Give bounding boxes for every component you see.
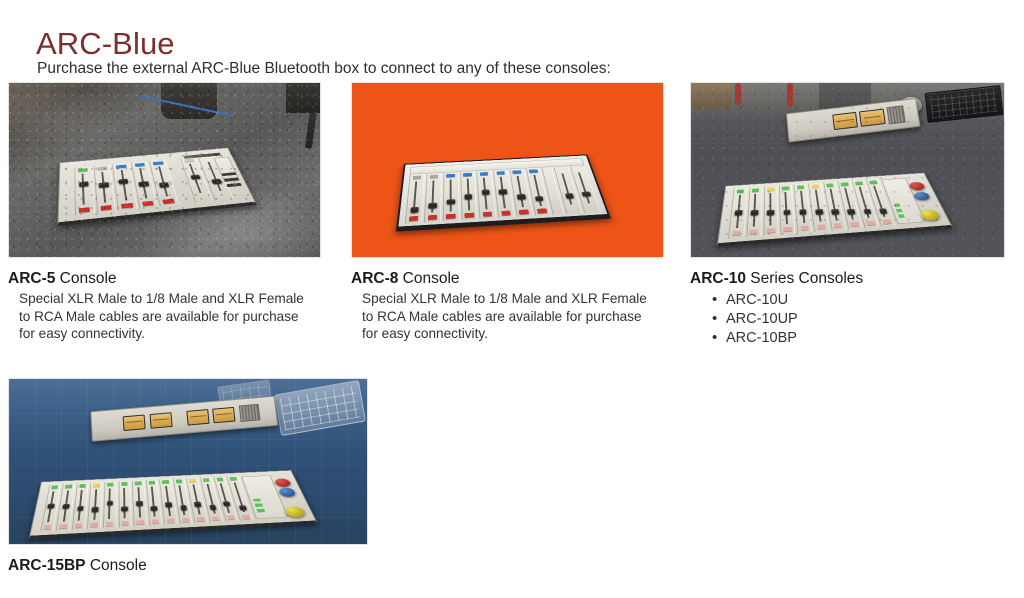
channel-strip — [794, 184, 813, 233]
channel-strip — [87, 482, 103, 529]
channel-strip — [132, 480, 147, 526]
dark-background-shape — [161, 83, 217, 119]
arc-5-right-panel — [214, 157, 241, 182]
blue-cable — [140, 95, 234, 117]
product-card-arc-15bp: ARC-15BP Console — [8, 378, 368, 575]
channel-strip — [779, 185, 796, 235]
product-note-arc-5: Special XLR Male to 1/8 Male and XLR Fem… — [19, 290, 321, 343]
channel-strip — [866, 179, 895, 227]
product-card-arc-10: ARC-10 Series Consoles ARC-10U ARC-10UP … — [690, 82, 1005, 348]
arc-10-model-list: ARC-10U ARC-10UP ARC-10BP — [690, 291, 1005, 348]
arc-15bp-meter-bridge — [90, 396, 278, 442]
note-line-1: Special XLR Male to 1/8 Male and XLR Fem… — [362, 290, 664, 308]
channel-strip — [200, 477, 224, 523]
arc-10-console-body — [717, 173, 953, 247]
arc-15bp-control-panel — [241, 475, 289, 519]
caption-arc-10: ARC-10 Series Consoles ARC-10U ARC-10UP … — [690, 269, 1005, 348]
chair-leg — [305, 87, 321, 149]
product-image-arc-15bp[interactable] — [8, 378, 368, 545]
channel-strip — [443, 172, 460, 221]
vu-meter — [186, 409, 209, 426]
arc-10-channel-strips — [728, 179, 895, 238]
channel-strip — [103, 481, 117, 528]
list-item: ARC-10U — [690, 291, 1005, 310]
channel-strip — [746, 187, 762, 237]
channel-strip — [763, 186, 778, 236]
vu-meter — [213, 406, 236, 423]
secondary-keyboard — [217, 380, 272, 413]
channel-strip — [112, 163, 137, 211]
channel-strip — [852, 180, 879, 228]
channel-strip — [227, 476, 254, 521]
caption-arc-8: ARC-8 Console Special XLR Male to 1/8 Ma… — [351, 269, 664, 343]
channel-strip — [149, 160, 179, 207]
channel-strip — [808, 183, 829, 232]
product-image-arc-5[interactable] — [8, 82, 321, 258]
channel-strip — [424, 173, 442, 222]
channel-strip — [74, 166, 94, 215]
vu-meter — [832, 112, 858, 130]
caption-arc-5: ARC-5 Console Special XLR Male to 1/8 Ma… — [8, 269, 321, 343]
product-title-arc-15bp: ARC-15BP Console — [8, 556, 368, 575]
keyboard — [925, 85, 1004, 123]
channel-strip — [93, 165, 116, 213]
product-card-arc-8: ARC-8 Console Special XLR Male to 1/8 Ma… — [351, 82, 664, 343]
list-item: ARC-10BP — [690, 329, 1005, 348]
product-note-arc-8: Special XLR Male to 1/8 Male and XLR Fem… — [362, 290, 664, 343]
product-title-arc-8: ARC-8 Console — [351, 269, 664, 288]
channel-strip — [56, 483, 75, 530]
channel-strip — [460, 171, 478, 220]
channel-strip — [159, 479, 178, 525]
blue-knob — [913, 191, 931, 200]
yellow-knob — [283, 505, 307, 517]
product-image-arc-8[interactable] — [351, 82, 664, 258]
channel-strip — [405, 174, 425, 223]
chair-leg — [735, 83, 741, 105]
channel-strip — [131, 161, 158, 208]
channel-strip — [146, 480, 163, 526]
arc-10-meter-bridge — [786, 98, 921, 143]
arc-15bp-channel-strips — [40, 476, 253, 532]
note-line-2: to RCA Male cables are available for pur… — [19, 308, 321, 326]
arc-8-console-body — [396, 154, 611, 231]
list-item: ARC-10UP — [690, 310, 1005, 329]
product-card-arc-5: ARC-5 Console Special XLR Male to 1/8 Ma… — [8, 82, 321, 343]
background-object — [286, 83, 320, 113]
channel-strip — [728, 188, 747, 239]
blue-knob — [277, 487, 296, 496]
yellow-knob — [919, 209, 941, 221]
red-knob — [908, 182, 926, 191]
arc-10-scene — [691, 83, 1004, 257]
arc-10-control-panel — [881, 178, 926, 224]
channel-strip — [72, 483, 89, 530]
channel-strip-monitor — [180, 157, 214, 203]
channel-strip — [837, 181, 862, 229]
vu-meter — [123, 414, 146, 431]
vu-meter — [149, 412, 172, 429]
background-object — [819, 83, 871, 117]
red-knob — [273, 478, 292, 487]
channel-strip — [40, 484, 61, 532]
speaker-grille — [239, 403, 261, 422]
product-title-arc-5: ARC-5 Console — [8, 269, 321, 288]
note-line-1: Special XLR Male to 1/8 Male and XLR Fem… — [19, 290, 321, 308]
wall-panel — [691, 83, 731, 109]
arc-8-scene — [352, 83, 663, 257]
note-line-2: to RCA Male cables are available for pur… — [362, 308, 664, 326]
channel-strip — [213, 476, 238, 521]
chair-leg — [787, 83, 793, 107]
arc-5-scene — [9, 83, 320, 257]
page-title: ARC-Blue — [36, 25, 175, 63]
mouse — [900, 97, 922, 113]
page-subtitle: Purchase the external ARC-Blue Bluetooth… — [37, 59, 611, 79]
arc-15bp-console-body — [29, 470, 318, 539]
caption-arc-15bp: ARC-15BP Console — [8, 556, 368, 575]
channel-strip — [186, 478, 208, 524]
note-line-3: for easy connectivity. — [362, 325, 664, 343]
note-line-3: for easy connectivity. — [19, 325, 321, 343]
arc-5-logo-plate — [184, 153, 221, 159]
arc-5-channel-strips — [74, 155, 233, 215]
product-title-arc-10: ARC-10 Series Consoles — [690, 269, 1005, 288]
arc-5-console-body — [57, 148, 257, 226]
arc-blue-product-page: ARC-Blue Purchase the external ARC-Blue … — [0, 0, 1024, 598]
arc-15bp-scene — [9, 379, 367, 544]
channel-strip — [118, 481, 131, 528]
vu-meter — [859, 109, 885, 127]
channel-strip — [173, 478, 193, 524]
channel-strip — [823, 182, 846, 231]
product-image-arc-10[interactable] — [690, 82, 1005, 258]
channel-strip-headphone — [198, 155, 234, 200]
keyboard — [274, 380, 366, 436]
arc-8-channel-strips — [405, 166, 600, 224]
speaker-grille — [886, 106, 906, 125]
